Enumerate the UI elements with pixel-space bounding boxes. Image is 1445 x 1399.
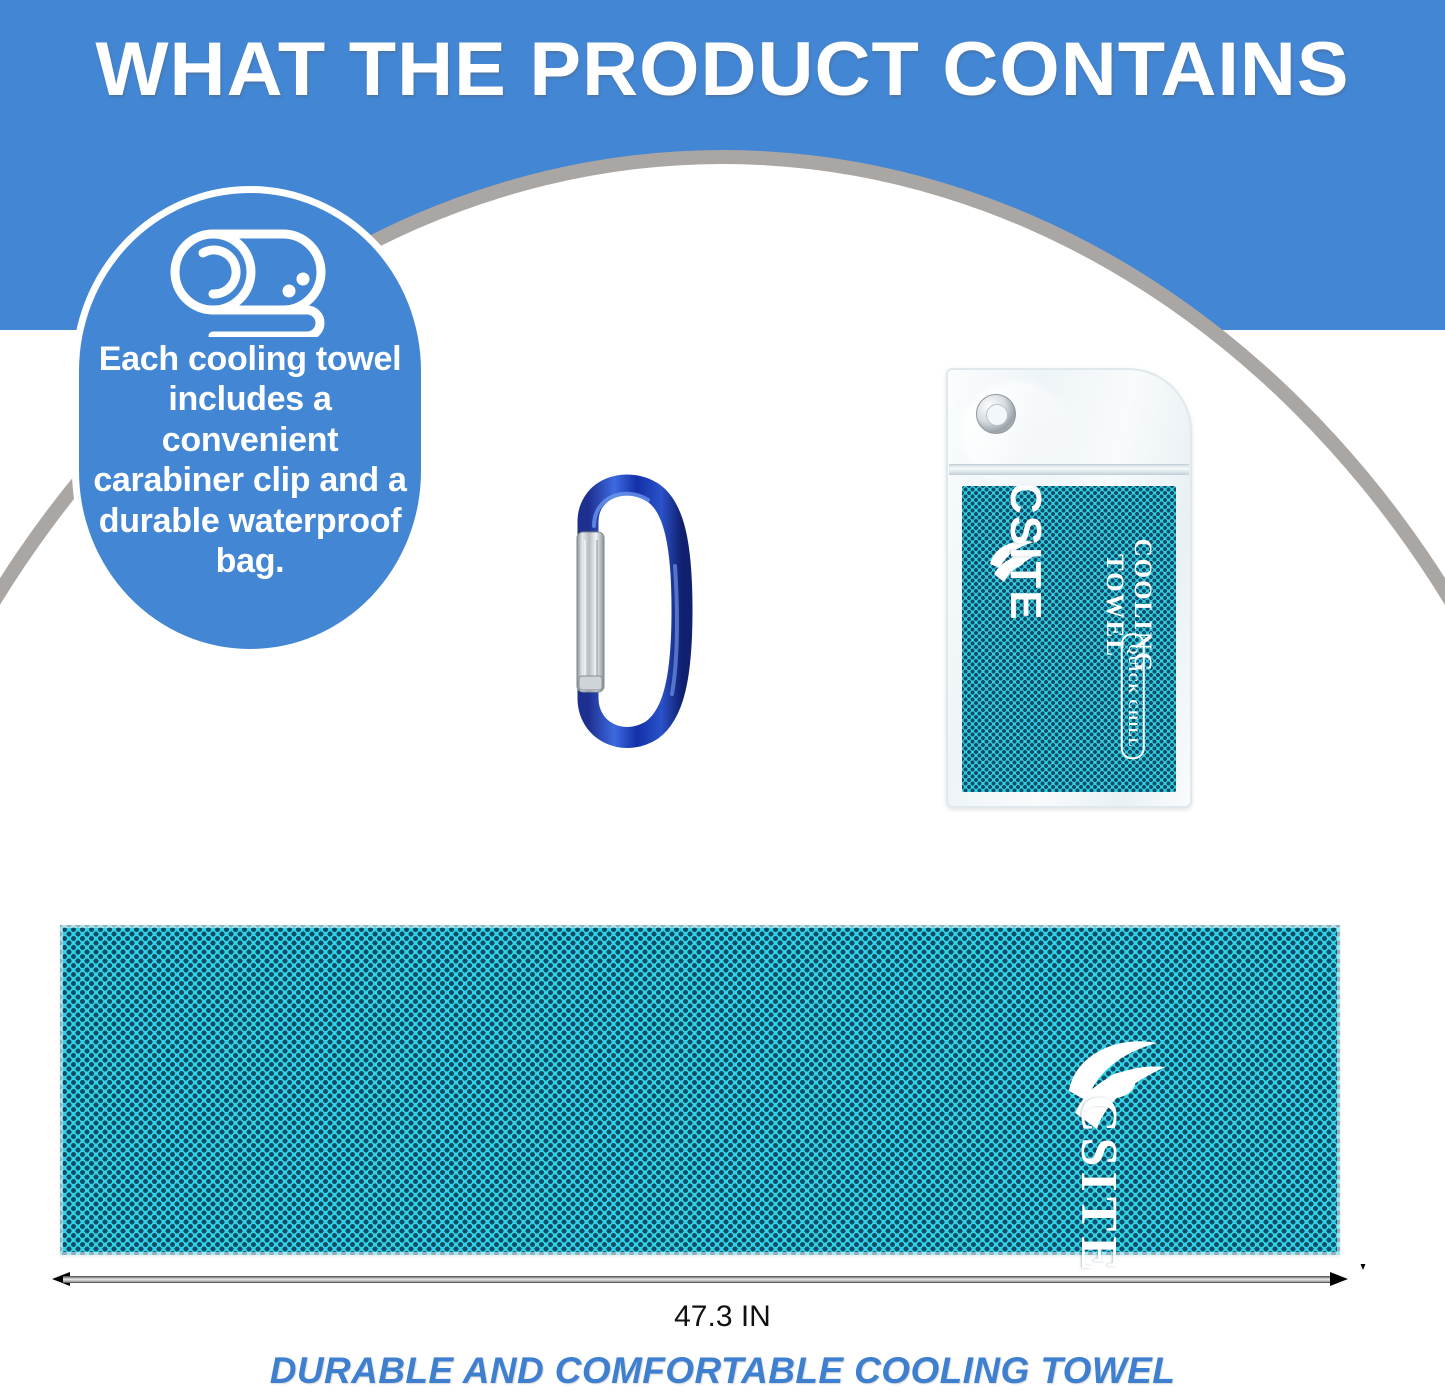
badge-description: Each cooling towel includes a convenient…: [91, 339, 409, 582]
page-title: WHAT THE PRODUCT CONTAINS: [0, 26, 1445, 113]
bag-brand-text: CSITE: [1000, 486, 1050, 712]
infographic-canvas: WHAT THE PRODUCT CONTAINS Each cooling t…: [0, 0, 1445, 1399]
bottom-caption: DURABLE AND COMFORTABLE COOLING TOWEL: [0, 1350, 1445, 1392]
carabiner-clip-image: [548, 470, 713, 760]
towel-width-label: 47.3 IN: [0, 1300, 1445, 1334]
bag-towel-contents: CSITE COOLING TOWEL QUICK CHILL: [962, 486, 1176, 792]
towel-brand-text: CSITE: [1069, 1095, 1128, 1276]
feature-badge: Each cooling towel includes a convenient…: [72, 186, 428, 656]
waterproof-bag-image: CSITE COOLING TOWEL QUICK CHILL: [946, 368, 1192, 808]
arrow-head-right: [1330, 1272, 1348, 1286]
towel-width-arrow: [52, 1272, 1348, 1286]
quick-chill-badge: QUICK CHILL: [1121, 633, 1145, 759]
grommet-icon: [976, 394, 1016, 434]
arrow-shaft: [63, 1276, 1337, 1283]
rolled-towel-icon: [155, 217, 345, 337]
bag-zip-seal: [949, 464, 1189, 475]
